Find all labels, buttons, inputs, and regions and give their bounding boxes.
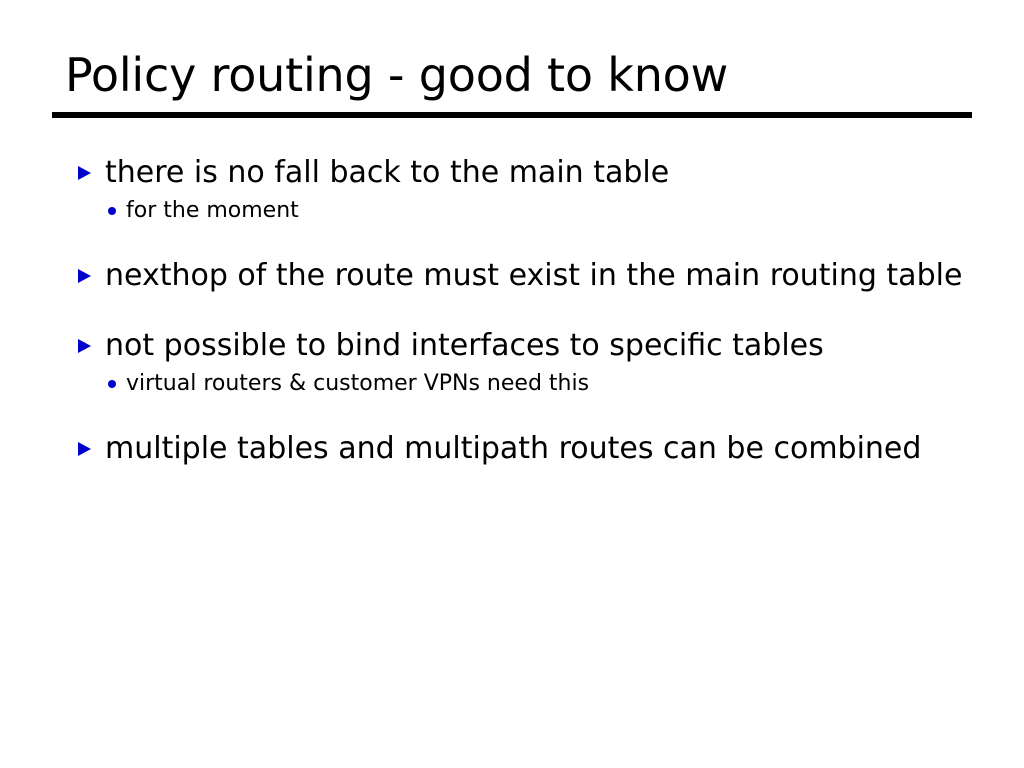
bullet-level2: for the moment xyxy=(76,195,976,227)
page-title: Policy routing - good to know xyxy=(52,46,972,104)
title-underline-rule xyxy=(52,112,972,118)
slide-title-block: Policy routing - good to know xyxy=(52,46,972,104)
bullet-level1-label: not possible to bind interfaces to speci… xyxy=(105,325,976,367)
bullet-group: there is no fall back to the main table … xyxy=(76,152,976,227)
triangle-bullet-icon xyxy=(78,269,91,283)
bullet-level2-label: virtual routers & customer VPNs need thi… xyxy=(126,368,976,400)
triangle-bullet-icon xyxy=(78,442,91,456)
bullet-group: multiple tables and multipath routes can… xyxy=(76,428,976,470)
bullet-level1-label: nexthop of the route must exist in the m… xyxy=(105,255,976,297)
bullet-level1-label: multiple tables and multipath routes can… xyxy=(105,428,976,470)
dot-bullet-icon xyxy=(108,380,116,388)
triangle-bullet-icon xyxy=(78,339,91,353)
slide-canvas: Policy routing - good to know there is n… xyxy=(0,0,1024,768)
bullet-level1: there is no fall back to the main table xyxy=(76,152,976,194)
bullet-level1: multiple tables and multipath routes can… xyxy=(76,428,976,470)
bullet-level1: not possible to bind interfaces to speci… xyxy=(76,325,976,367)
bullet-list: there is no fall back to the main table … xyxy=(76,152,976,470)
bullet-level2: virtual routers & customer VPNs need thi… xyxy=(76,368,976,400)
triangle-bullet-icon xyxy=(78,166,91,180)
bullet-group: not possible to bind interfaces to speci… xyxy=(76,325,976,400)
bullet-level1: nexthop of the route must exist in the m… xyxy=(76,255,976,297)
bullet-level1-label: there is no fall back to the main table xyxy=(105,152,976,194)
bullet-group: nexthop of the route must exist in the m… xyxy=(76,255,976,297)
dot-bullet-icon xyxy=(108,207,116,215)
bullet-level2-label: for the moment xyxy=(126,195,976,227)
